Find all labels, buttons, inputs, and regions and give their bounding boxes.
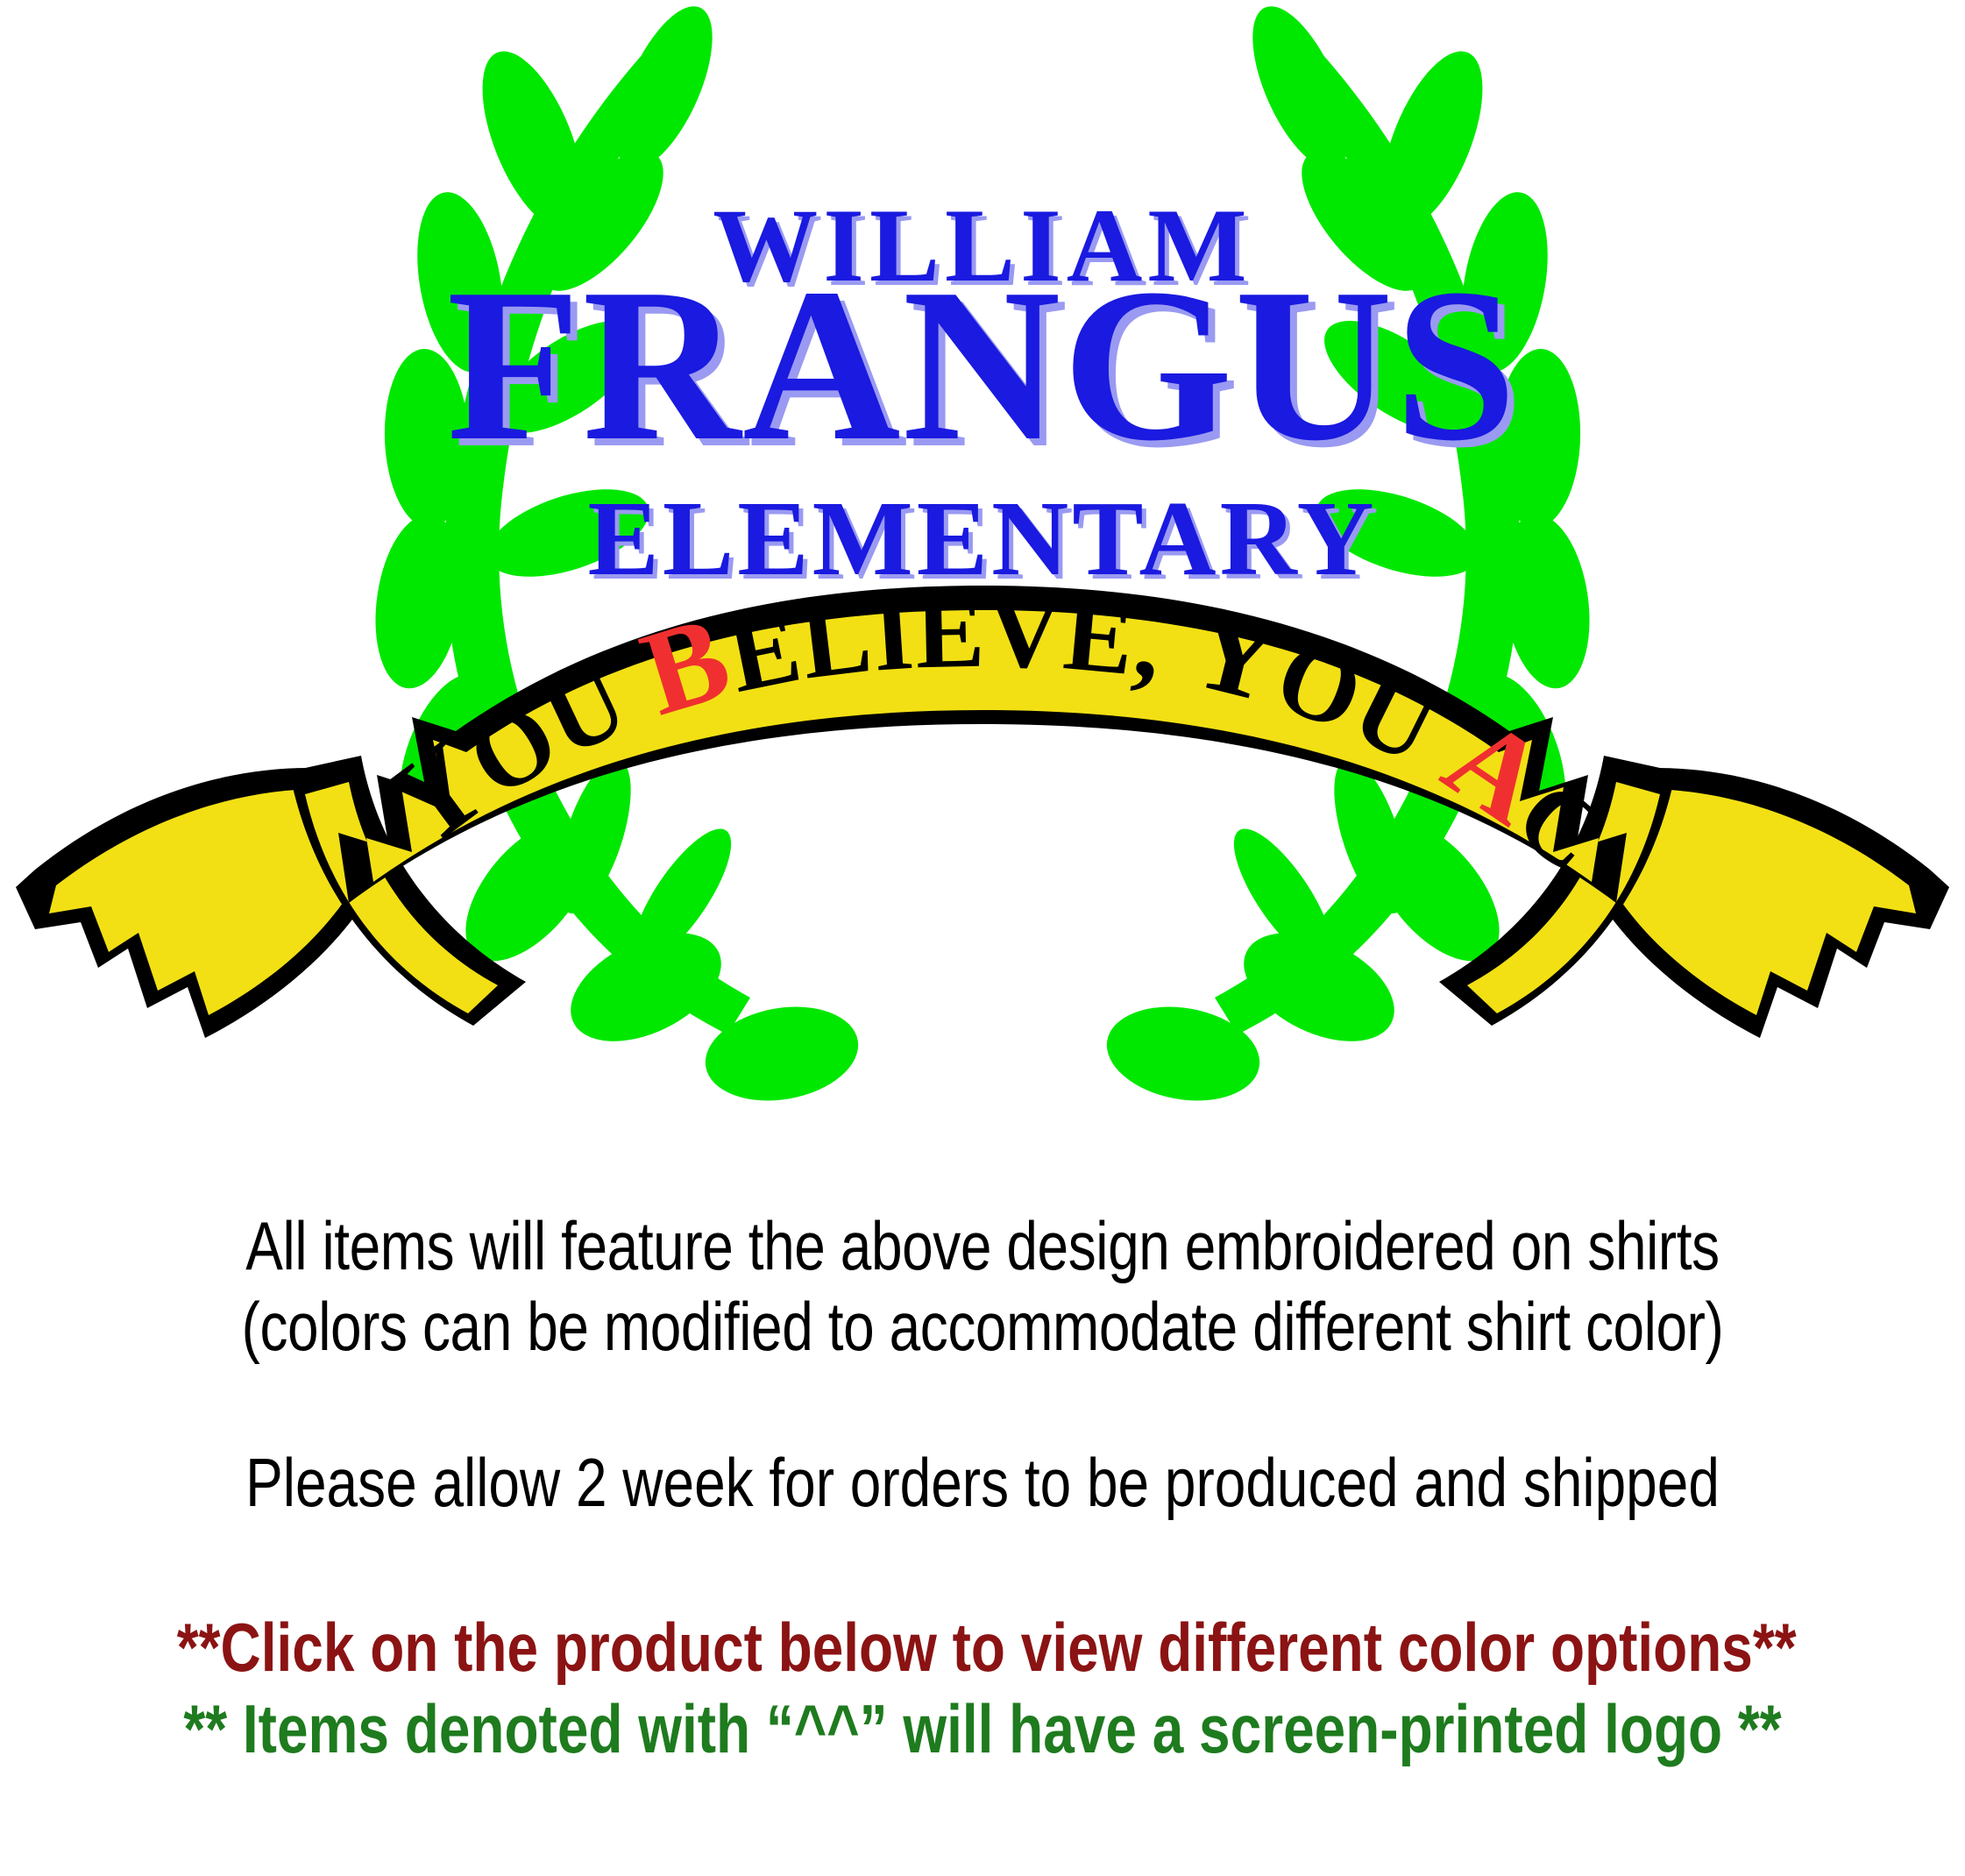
note-line-4: **Click on the product below to view dif…	[177, 1607, 1788, 1688]
order-notes: All items will feature the above design …	[0, 1205, 1965, 1771]
crest-svg: WILLIAM WILLIAM FRANGUS FRANGUS ELEMENTA…	[0, 0, 1965, 1166]
note-line-3: Please allow 2 week for orders to be pro…	[177, 1442, 1788, 1523]
note-line-5: ** Items denoted with “^^” will have a s…	[177, 1688, 1788, 1771]
motto-seg2: HEN	[0, 0, 440, 887]
note-line-1: All items will feature the above design …	[177, 1205, 1788, 1286]
spacer-2	[0, 1523, 1965, 1607]
spacer-1	[0, 1367, 1965, 1442]
note-line-2: (colors can be modified to accommodate d…	[177, 1286, 1788, 1367]
school-name-group: WILLIAM WILLIAM FRANGUS FRANGUS ELEMENTA…	[447, 187, 1525, 602]
school-name-main: FRANGUS	[447, 244, 1518, 487]
motto-open-quote: “	[0, 0, 26, 23]
motto-close-quote: ”	[0, 0, 26, 23]
school-logo-crest: WILLIAM WILLIAM FRANGUS FRANGUS ELEMENTA…	[0, 0, 1965, 1166]
motto-seg1: W	[0, 0, 61, 26]
